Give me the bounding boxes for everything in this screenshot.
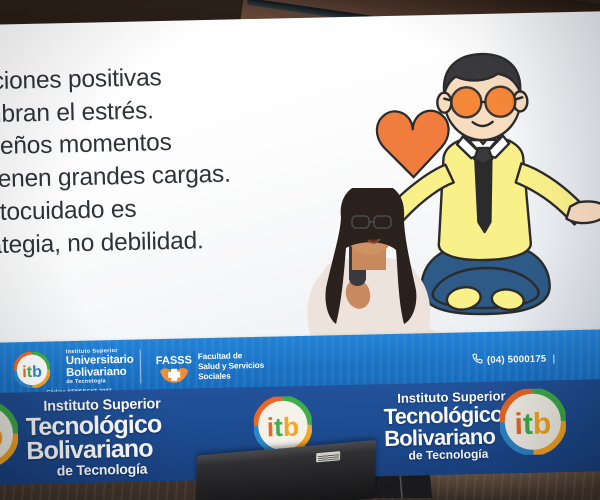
university-name-block: Instituto Superior Universitario Bolivar… — [66, 348, 134, 386]
itb-logo-left-partial: itb — [0, 400, 19, 467]
itb-logo-right: itb — [499, 388, 566, 455]
university-line-1: Instituto Superior — [66, 348, 134, 356]
university-line-4: de Tecnología — [66, 378, 134, 386]
institute-left-line-2: Tecnológico — [26, 412, 162, 440]
institute-right-line-4: de Tecnología — [384, 447, 507, 462]
photo-scene: mociones positivas quilibran el estrés. … — [0, 0, 600, 500]
faculty-name-block: Facultad de Salud y Servicios Sociales — [198, 351, 265, 382]
fasss-logo: FASSS — [156, 350, 193, 390]
svg-text:itb: itb — [22, 364, 42, 381]
institute-name-right: Instituto Superior Tecnológico Bolivaria… — [383, 389, 507, 462]
university-line-2: Universitario — [66, 354, 134, 368]
faculty-line-3: Sociales — [198, 371, 264, 382]
faculty-line-1: Facultad de — [198, 351, 264, 362]
phone-separator: | — [550, 353, 557, 364]
institute-right-line-1: Instituto Superior — [383, 389, 506, 405]
svg-text:itb: itb — [514, 407, 551, 441]
institute-right-line-3: Bolivariano — [384, 425, 507, 450]
svg-text:itb: itb — [266, 412, 299, 443]
institute-name-left: Instituto Superior Tecnológico Bolivaria… — [25, 397, 162, 478]
svg-text:itb: itb — [0, 420, 4, 454]
phone-icon — [472, 353, 483, 367]
institute-left-line-1: Instituto Superior — [25, 397, 161, 415]
contact-phone: (04) 5000175 | — [472, 351, 558, 367]
faculty-line-2: Salud y Servicios — [198, 361, 264, 372]
institute-left-line-3: Bolivariano — [26, 436, 162, 464]
institute-left-line-4: de Tecnología — [27, 461, 163, 478]
equipment-label — [316, 451, 340, 462]
banner-divider — [140, 350, 142, 384]
university-line-3: Bolivariano — [66, 366, 134, 380]
svg-text:FASSS: FASSS — [156, 354, 192, 367]
itb-logo: itb — [14, 352, 51, 389]
institute-right-line-2: Tecnológico — [383, 403, 506, 428]
phone-number: (04) 5000175 — [487, 353, 547, 365]
